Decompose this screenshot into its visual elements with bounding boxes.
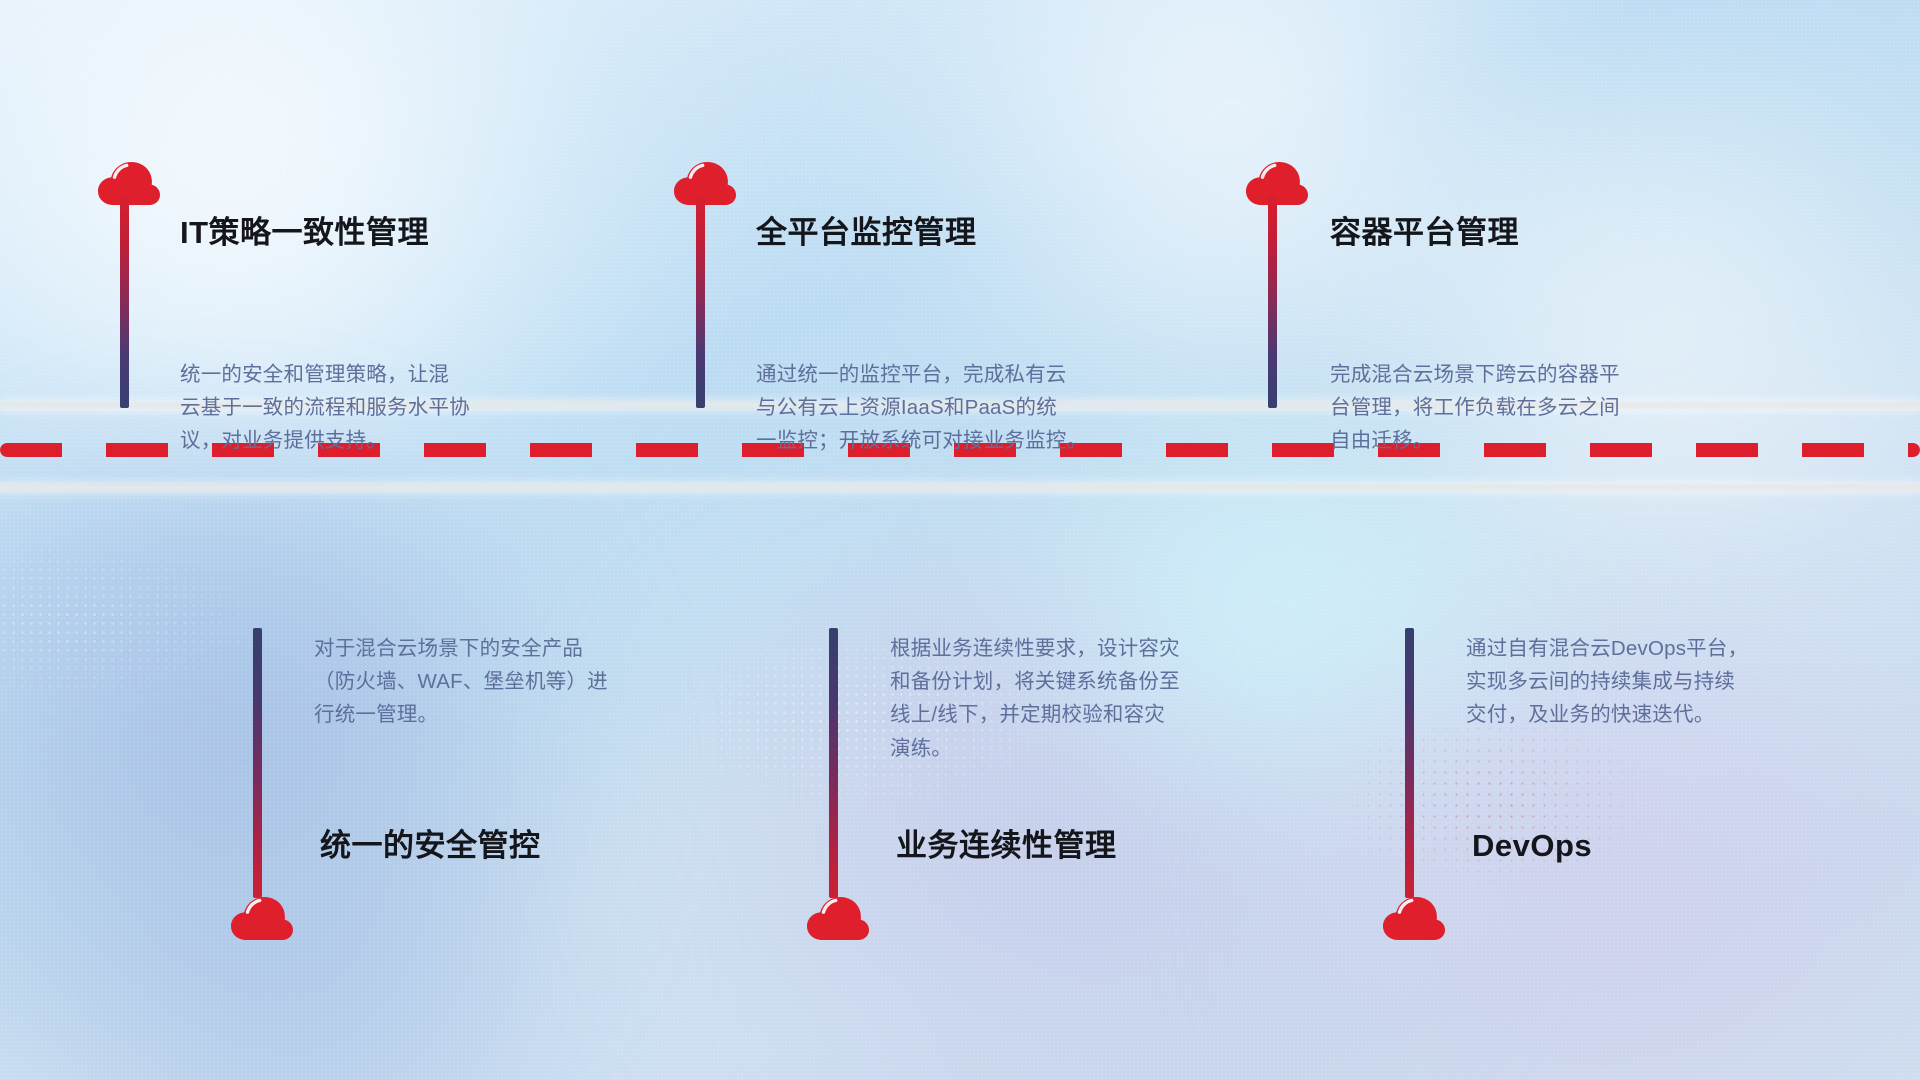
card-heading: 统一的安全管控 bbox=[320, 827, 541, 864]
card-body: 完成混合云场景下跨云的容器平 台管理，将工作负载在多云之间 自由迁移。 bbox=[1330, 358, 1760, 458]
card-heading: 容器平台管理 bbox=[1330, 214, 1519, 251]
connector-stem bbox=[253, 628, 262, 898]
connector-stem bbox=[120, 196, 129, 408]
connector-stem bbox=[696, 196, 705, 408]
card-heading: IT策略一致性管理 bbox=[180, 214, 429, 251]
card-heading: DevOps bbox=[1472, 827, 1592, 864]
connector-stem bbox=[1405, 628, 1414, 898]
connector-stem bbox=[1268, 196, 1277, 408]
card-body: 通过统一的监控平台，完成私有云 与公有云上资源IaaS和PaaS的统 一监控；开… bbox=[756, 358, 1196, 458]
card-body: 根据业务连续性要求，设计容灾 和备份计划，将关键系统备份至 线上/线下，并定期校… bbox=[890, 632, 1320, 765]
road-edge-bottom bbox=[0, 482, 1920, 493]
infographic-canvas: IT策略一致性管理 统一的安全和管理策略，让混 云基于一致的流程和服务水平协 议… bbox=[0, 0, 1920, 1080]
card-body: 统一的安全和管理策略，让混 云基于一致的流程和服务水平协 议，对业务提供支持。 bbox=[180, 358, 600, 458]
cloud-icon bbox=[229, 895, 295, 941]
card-heading: 全平台监控管理 bbox=[756, 214, 977, 251]
cloud-icon bbox=[96, 160, 162, 206]
cloud-icon bbox=[805, 895, 871, 941]
cloud-icon bbox=[1244, 160, 1310, 206]
card-body: 通过自有混合云DevOps平台， 实现多云间的持续集成与持续 交付，及业务的快速… bbox=[1466, 632, 1896, 732]
card-body: 对于混合云场景下的安全产品 （防火墙、WAF、堡垒机等）进 行统一管理。 bbox=[314, 632, 744, 732]
cloud-icon bbox=[1381, 895, 1447, 941]
cloud-icon bbox=[672, 160, 738, 206]
card-heading: 业务连续性管理 bbox=[896, 827, 1117, 864]
connector-stem bbox=[829, 628, 838, 898]
